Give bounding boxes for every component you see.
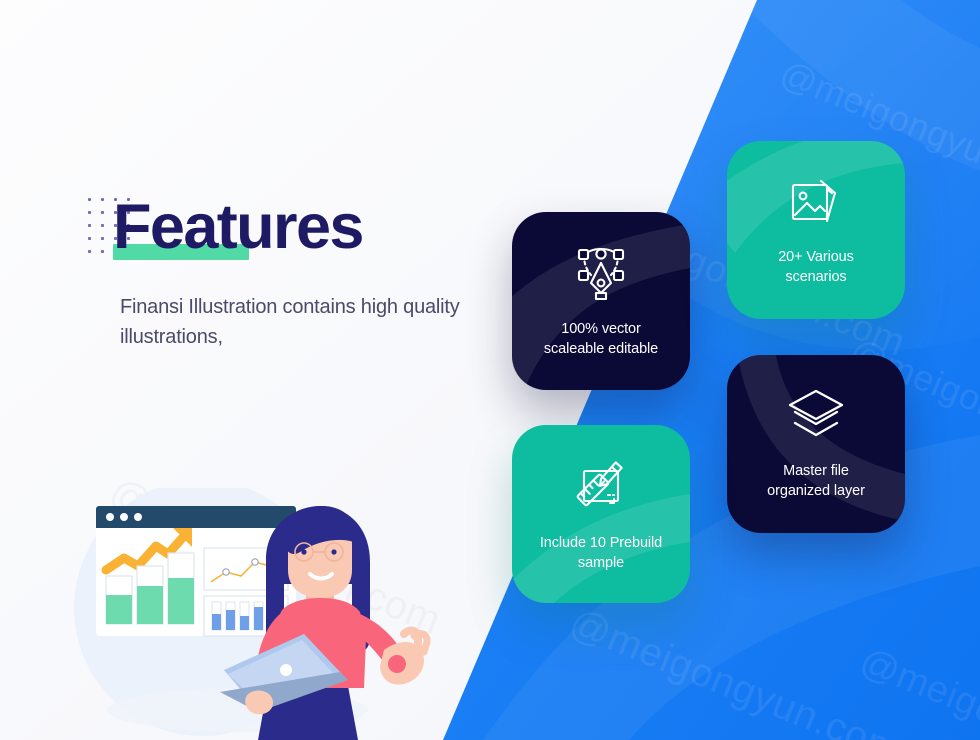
feature-card-prebuild[interactable]: Include 10 Prebuild sample <box>512 425 690 603</box>
feature-card-label: Master file organized layer <box>753 461 879 501</box>
feature-card-label-line1: Master file <box>767 461 865 481</box>
ruler-pencil-icon <box>570 455 632 517</box>
page-title: Features <box>113 192 363 262</box>
hero-section: Features Finansi Illustration contains h… <box>0 0 480 740</box>
feature-card-label-line1: 100% vector <box>544 319 658 339</box>
hero-illustration <box>52 488 452 740</box>
image-gallery-icon <box>785 173 847 235</box>
feature-card-label: 100% vector scaleable editable <box>530 319 672 359</box>
feature-card-label-line1: Include 10 Prebuild <box>540 533 662 553</box>
feature-card-scenarios[interactable]: 20+ Various scenarios <box>727 141 905 319</box>
feature-card-label-line2: scenarios <box>778 267 854 287</box>
feature-card-layers[interactable]: Master file organized layer <box>727 355 905 533</box>
feature-card-vector[interactable]: 100% vector scaleable editable <box>512 212 690 390</box>
window-dot <box>106 513 114 521</box>
feature-card-label: Include 10 Prebuild sample <box>526 533 676 573</box>
slide-canvas: @meigongyun.com @meigongyun.com @meigong… <box>0 0 980 740</box>
window-dot <box>120 513 128 521</box>
hero-subtitle: Finansi Illustration contains high quali… <box>120 292 490 352</box>
feature-card-label: 20+ Various scenarios <box>764 247 868 287</box>
pen-tool-icon <box>570 243 632 305</box>
page-title-wrapper: Features <box>113 192 363 262</box>
feature-card-label-line1: 20+ Various <box>778 247 854 267</box>
layers-icon <box>785 387 847 445</box>
feature-card-label-line2: organized layer <box>767 481 865 501</box>
feature-card-label-line2: scaleable editable <box>544 339 658 359</box>
window-dot <box>134 513 142 521</box>
feature-card-label-line2: sample <box>540 553 662 573</box>
